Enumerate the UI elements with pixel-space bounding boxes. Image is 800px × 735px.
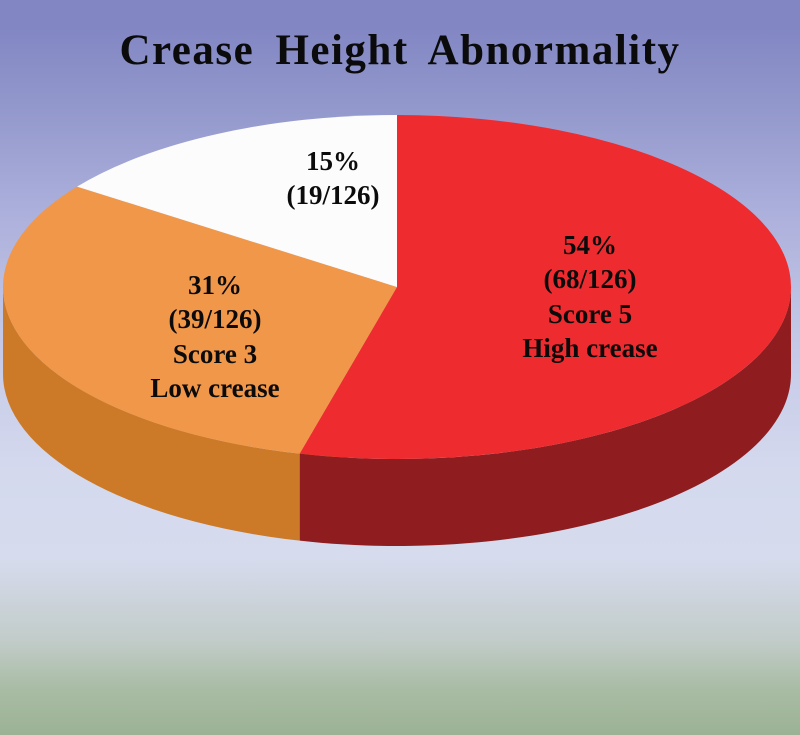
pie-chart-figure: Crease Height Abnormality 54% (68/126) S… — [0, 0, 800, 735]
pie-top-faces — [3, 115, 791, 459]
pie-svg — [0, 0, 800, 735]
pie-stage — [0, 0, 800, 735]
